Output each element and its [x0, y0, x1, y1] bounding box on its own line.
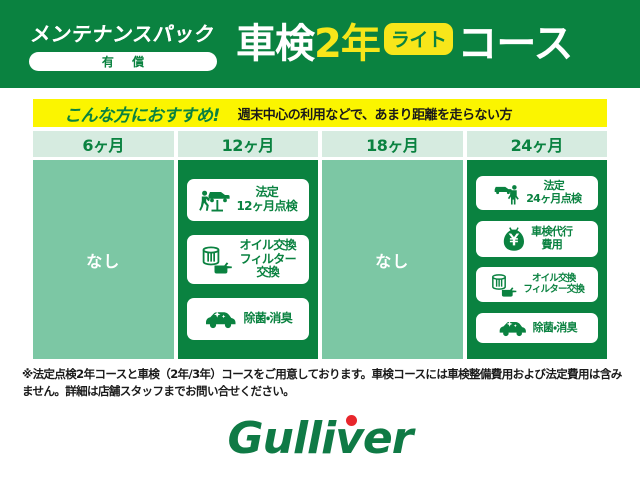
none-label-6m: なし: [86, 248, 120, 272]
recommendation-banner: こんな方におすすめ! 週末中心の利用などで、あまり距離を走らない方: [33, 99, 607, 127]
brand-logo-dot-icon: [346, 415, 357, 426]
service-item: 法定 24ヶ月点検: [476, 176, 598, 210]
course-title-shaken: 車検: [236, 24, 314, 64]
plan-column-24m: 24ヶ月 法定 24: [467, 131, 608, 359]
column-header-18m: 18ヶ月: [322, 131, 463, 157]
plan-column-12m: 12ヶ月: [178, 131, 319, 359]
car-lift-inspection-icon: [492, 180, 522, 206]
service-item: オイル交換 フィルター交換: [476, 267, 598, 302]
brand-logo-text: Gulliver: [228, 413, 413, 464]
car-lift-inspection-icon: [199, 185, 233, 215]
column-header-24m: 24ヶ月: [467, 131, 608, 157]
maintenance-pack-title: メンテナンスパック: [29, 18, 217, 47]
column-body-12m: 法定 12ヶ月点検: [178, 160, 319, 359]
service-item-label: 除菌・消臭: [533, 322, 577, 335]
course-title-course: コース: [457, 24, 572, 64]
plan-column-6m: 6ヶ月 なし: [33, 131, 174, 359]
brand-logo: Gulliver: [0, 412, 640, 464]
service-item-label: 車検代行 費用: [531, 226, 572, 251]
header-band: メンテナンスパック 有 償 車検 2年 ライト コース: [0, 0, 640, 88]
column-body-24m: 法定 24ヶ月点検 車検代行 費用: [467, 160, 608, 359]
footnote-text: ※法定点検2年コースと車検（2年/3年）コースをご用意しております。車検コースに…: [22, 366, 622, 399]
header-right-group: 車検 2年 ライト コース: [236, 24, 640, 64]
recommendation-subtext: 週末中心の利用などで、あまり距離を走らない方: [238, 104, 512, 123]
column-header-6m: 6ヶ月: [33, 131, 174, 157]
service-item-label: オイル交換 フィルター 交換: [239, 239, 296, 280]
service-item-label: 法定 24ヶ月点検: [526, 180, 581, 205]
oil-filter-change-icon: [489, 271, 519, 298]
paid-badge: 有 償: [29, 52, 217, 71]
paid-badge-label: 有 償: [95, 53, 151, 70]
promo-sheet: メンテナンスパック 有 償 車検 2年 ライト コース こんな方におすすめ! 週…: [0, 0, 640, 480]
recommendation-headline: こんな方におすすめ!: [64, 101, 220, 126]
lite-badge: ライト: [384, 23, 454, 55]
service-item: 除菌・消臭: [476, 313, 598, 343]
service-item: オイル交換 フィルター 交換: [187, 235, 309, 284]
service-item: 法定 12ヶ月点検: [187, 179, 309, 221]
header-left-group: メンテナンスパック 有 償: [14, 18, 232, 71]
column-body-6m: なし: [33, 160, 174, 359]
none-label-18m: なし: [375, 248, 409, 272]
money-bag-yen-icon: [501, 225, 527, 253]
brand-logo-label: Gulliver: [228, 413, 413, 464]
service-item-label: オイル交換 フィルター交換: [523, 274, 584, 296]
service-item-label: 除菌・消臭: [243, 312, 292, 326]
service-item: 除菌・消臭: [187, 298, 309, 340]
service-item-label: 法定 12ヶ月点検: [237, 186, 298, 214]
course-title-years: 2年: [314, 24, 380, 64]
oil-filter-change-icon: [199, 243, 235, 275]
plan-table: 6ヶ月 なし 12ヶ月: [33, 131, 607, 359]
car-sanitize-icon: [497, 318, 529, 338]
column-header-12m: 12ヶ月: [178, 131, 319, 157]
column-body-18m: なし: [322, 160, 463, 359]
plan-column-18m: 18ヶ月 なし: [322, 131, 463, 359]
service-item: 車検代行 費用: [476, 221, 598, 257]
car-sanitize-icon: [203, 308, 239, 330]
